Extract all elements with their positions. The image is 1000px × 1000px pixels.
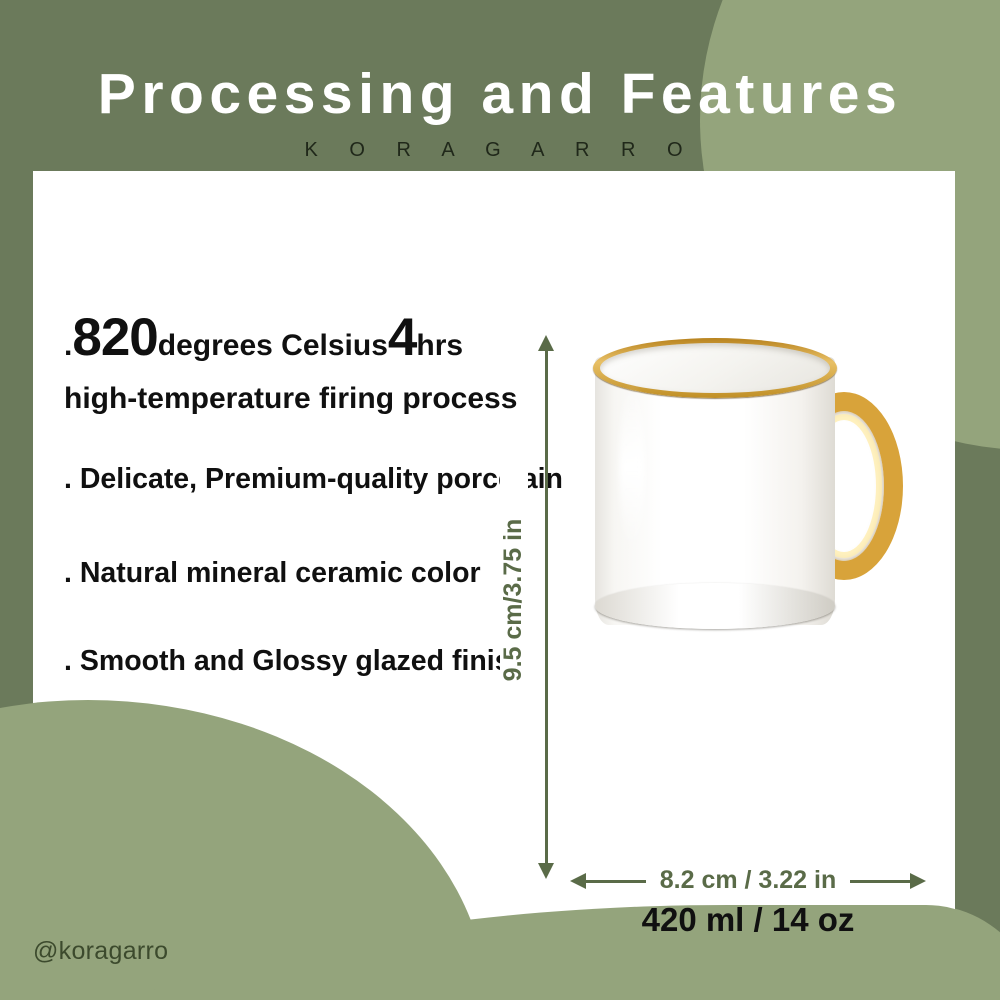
feature-item-2: . Natural mineral ceramic color	[64, 559, 481, 588]
firing-temperature-unit: degrees Celsius	[158, 329, 388, 362]
brand-name: K O R A G A R R O	[0, 140, 1000, 160]
bullet-marker: .	[64, 557, 72, 589]
feature-item-1-label: Delicate, Premium-quality porcelain	[80, 463, 563, 495]
feature-firing-description: high-temperature firing process	[64, 384, 517, 414]
firing-duration-value: 4	[388, 308, 416, 367]
feature-firing-headline: .820degrees Celsius4hrs	[64, 311, 463, 364]
arrow-shaft-left	[584, 880, 646, 883]
firing-duration-unit: hrs	[416, 329, 463, 362]
width-dimension-arrow: 8.2 cm / 3.22 in	[572, 871, 924, 891]
width-dimension-label: 8.2 cm / 3.22 in	[648, 868, 848, 893]
infographic-canvas: Processing and Features K O R A G A R R …	[0, 0, 1000, 1000]
volume-label: 420 ml / 14 oz	[572, 903, 924, 936]
bullet-marker: .	[64, 645, 72, 677]
firing-temperature-value: 820	[72, 308, 157, 367]
page-title: Processing and Features	[0, 66, 1000, 123]
feature-item-3: . Smooth and Glossy glazed finish	[64, 647, 528, 676]
height-dimension-label: 9.5 cm/3.75 in	[500, 460, 528, 740]
feature-item-1: . Delicate, Premium-quality porcelain	[64, 465, 563, 494]
arrow-head-down-icon	[538, 863, 554, 879]
watermark-handle: @koragarro	[33, 939, 168, 964]
feature-item-3-label: Smooth and Glossy glazed finish	[80, 645, 528, 677]
mug-highlight	[619, 382, 645, 552]
arrow-head-right-icon	[910, 873, 926, 889]
product-mug-image	[557, 330, 907, 660]
height-dimension-arrow	[536, 337, 556, 877]
arrow-shaft	[545, 346, 548, 868]
feature-item-2-label: Natural mineral ceramic color	[80, 557, 481, 589]
bullet-marker: .	[64, 463, 72, 495]
arrow-shaft-right	[850, 880, 912, 883]
